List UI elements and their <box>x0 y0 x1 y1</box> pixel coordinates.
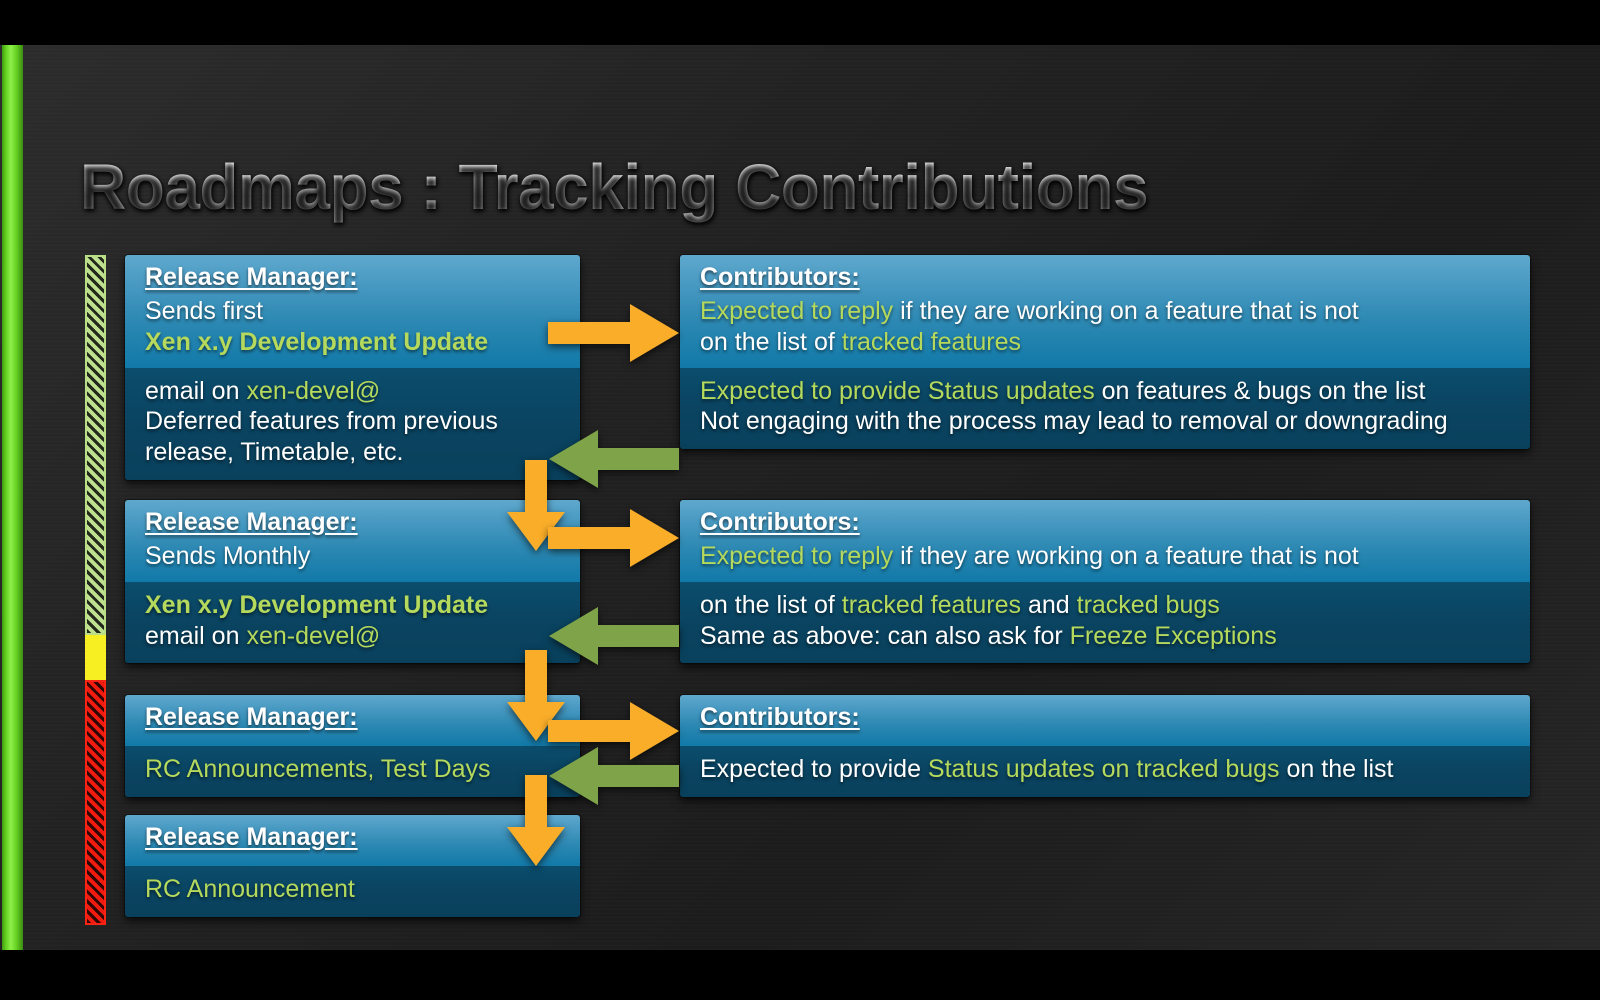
release-manager-box-1-body-line: Deferred features from previous <box>145 406 560 437</box>
release-manager-box-4-body-line: RC Announcement <box>145 874 560 905</box>
text-run: on the list of <box>700 591 842 619</box>
release-manager-box-2-body-line: Xen x.y Development Update <box>145 590 560 621</box>
text-run: if they are working on a feature that is… <box>893 542 1359 570</box>
release-manager-box-4-body-section: RC Announcement <box>125 866 580 917</box>
release-manager-box-1[interactable]: Release Manager:Sends firstXen x.y Devel… <box>125 255 580 480</box>
contributors-box-2-body-section: on the list of tracked features and trac… <box>680 582 1530 664</box>
arrow-contributors-to-rm-2 <box>548 605 680 667</box>
text-run: Xen x.y Development Update <box>145 591 488 619</box>
text-run: RC Announcement <box>145 875 355 903</box>
contributors-box-3-body-section: Expected to provide Status updates on tr… <box>680 746 1530 797</box>
arrow-contributors-to-rm-3 <box>548 745 680 807</box>
contributors-box-2-body-line: on the list of tracked features and trac… <box>700 590 1510 621</box>
text-run: tracked features <box>842 328 1021 356</box>
contributors-box-1-top-line: Expected to reply if they are working on… <box>700 296 1510 327</box>
release-phase-bar <box>85 255 106 925</box>
release-manager-heading-1: Release Manager: <box>145 263 560 292</box>
release-manager-box-3-body-line: RC Announcements, Test Days <box>145 754 560 785</box>
text-run: email on <box>145 622 246 650</box>
text-run: Sends Monthly <box>145 542 310 570</box>
text-run: Expected to provide Status updates <box>700 377 1095 405</box>
arrow-rm3-to-rm4 <box>505 775 567 867</box>
text-run: Sends first <box>145 297 263 325</box>
text-run: email on <box>145 377 246 405</box>
text-run: Deferred features from previous <box>145 407 498 435</box>
left-accent-stripe <box>2 45 23 950</box>
contributors-box-3[interactable]: Contributors:Expected to provide Status … <box>680 695 1530 797</box>
release-manager-box-2-body-line: email on xen-devel@ <box>145 621 560 652</box>
contributors-box-2-top-line: Expected to reply if they are working on… <box>700 541 1510 572</box>
text-run: tracked features <box>842 591 1021 619</box>
text-run: Xen x.y Development Update <box>145 328 488 356</box>
text-run: RC Announcements, Test Days <box>145 755 491 783</box>
text-run: Expected to reply <box>700 297 893 325</box>
text-run: on the list of <box>700 328 842 356</box>
text-run: xen-devel@ <box>246 622 380 650</box>
contributors-box-1-body-line: Expected to provide Status updates on fe… <box>700 376 1510 407</box>
contributors-box-1-body-line: Not engaging with the process may lead t… <box>700 406 1510 437</box>
text-run: Expected to provide <box>700 755 928 783</box>
arrow-contributors-to-rm-3-shape <box>549 747 679 805</box>
text-run: on features & bugs on the list <box>1095 377 1426 405</box>
release-manager-box-1-top-line: Xen x.y Development Update <box>145 327 560 358</box>
arrow-contributors-to-rm-1 <box>548 428 680 490</box>
arrow-contributors-to-rm-2-shape <box>549 607 679 665</box>
release-manager-box-1-body-line: release, Timetable, etc. <box>145 437 560 468</box>
release-manager-heading-3: Release Manager: <box>145 703 560 732</box>
arrow-rm-to-contributors-2 <box>548 507 680 569</box>
arrow-rm-to-contributors-2-shape <box>548 509 679 567</box>
text-run: release, Timetable, etc. <box>145 438 403 466</box>
phase-segment-release-candidate <box>85 680 106 925</box>
arrow-rm-to-contributors-1 <box>548 302 680 364</box>
arrow-contributors-to-rm-1-shape <box>549 430 679 488</box>
text-run: on the list <box>1280 755 1394 783</box>
release-manager-box-1-header-section: Release Manager:Sends firstXen x.y Devel… <box>125 255 580 368</box>
release-manager-box-1-body-line: email on xen-devel@ <box>145 376 560 407</box>
text-run: if they are working on a feature that is… <box>893 297 1359 325</box>
contributors-heading-3: Contributors: <box>700 703 1510 732</box>
text-run: tracked bugs <box>1077 591 1220 619</box>
text-run: Same as above: can also ask for <box>700 622 1070 650</box>
text-run: Status updates on tracked bugs <box>928 755 1280 783</box>
text-run: xen-devel@ <box>246 377 380 405</box>
contributors-box-1-body-section: Expected to provide Status updates on fe… <box>680 368 1530 450</box>
contributors-box-1[interactable]: Contributors:Expected to reply if they a… <box>680 255 1530 449</box>
contributors-box-2-header-section: Contributors:Expected to reply if they a… <box>680 500 1530 582</box>
text-run: and <box>1021 591 1077 619</box>
release-manager-box-1-top-line: Sends first <box>145 296 560 327</box>
letterbox-top <box>0 0 1600 45</box>
slide-canvas: Roadmaps : Tracking Contributions Roadma… <box>0 45 1600 950</box>
contributors-box-3-header-section: Contributors: <box>680 695 1530 746</box>
contributors-heading-2: Contributors: <box>700 508 1510 537</box>
contributors-box-1-header-section: Contributors:Expected to reply if they a… <box>680 255 1530 368</box>
contributors-heading-1: Contributors: <box>700 263 1510 292</box>
contributors-box-3-body-line: Expected to provide Status updates on tr… <box>700 754 1510 785</box>
contributors-box-1-top-line: on the list of tracked features <box>700 327 1510 358</box>
text-run: Expected to reply <box>700 542 893 570</box>
letterbox-bottom <box>0 950 1600 1000</box>
contributors-box-2[interactable]: Contributors:Expected to reply if they a… <box>680 500 1530 663</box>
text-run: Freeze Exceptions <box>1070 622 1277 650</box>
release-manager-heading-2: Release Manager: <box>145 508 560 537</box>
text-run: Not engaging with the process may lead t… <box>700 407 1448 435</box>
phase-segment-development <box>85 255 106 635</box>
arrow-rm3-to-rm4-shape <box>507 775 565 866</box>
release-manager-box-2-top-line: Sends Monthly <box>145 541 560 572</box>
page-title: Roadmaps : Tracking Contributions <box>80 150 1148 224</box>
release-manager-heading-4: Release Manager: <box>145 823 560 852</box>
arrow-rm-to-contributors-1-shape <box>548 304 679 362</box>
phase-segment-freeze <box>85 635 106 680</box>
contributors-box-2-body-line: Same as above: can also ask for Freeze E… <box>700 621 1510 652</box>
